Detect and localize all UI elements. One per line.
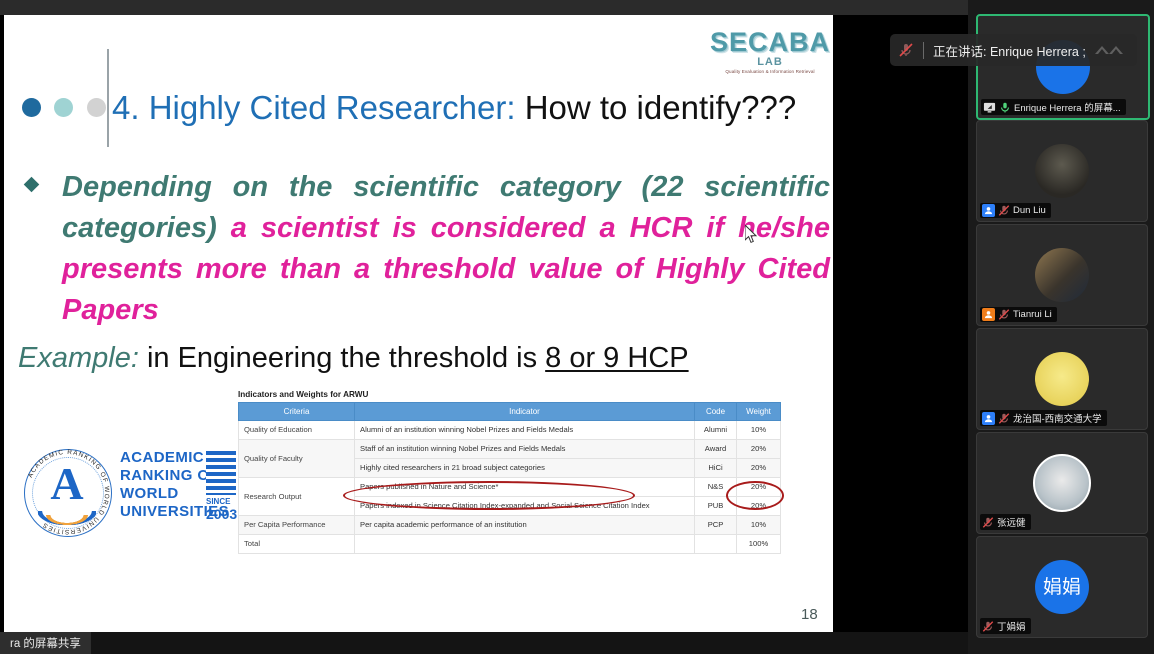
cell-criteria: Quality of Education bbox=[239, 421, 355, 440]
cell-code: HiCi bbox=[695, 459, 737, 478]
participant-tile[interactable]: 张远健 bbox=[976, 432, 1148, 534]
avatar bbox=[1035, 248, 1089, 302]
cell-indicator: Papers indexed in Science Citation Index… bbox=[355, 497, 695, 516]
cell-weight: 100% bbox=[737, 535, 781, 554]
mic-muted-icon bbox=[998, 412, 1010, 425]
participants-sidebar[interactable]: Enrique Herrera 的屏幕... Dun Liu bbox=[968, 0, 1154, 654]
cell-code: Alumni bbox=[695, 421, 737, 440]
cell-weight: 10% bbox=[737, 516, 781, 535]
cell-weight: 20% bbox=[737, 459, 781, 478]
dot-3-icon bbox=[87, 98, 106, 117]
bullet-diamond-icon bbox=[24, 177, 40, 193]
table-row: Total 100% bbox=[239, 535, 781, 554]
mouse-cursor-icon bbox=[745, 225, 758, 244]
shared-slide: SECABA LAB Quality Evaluation & Informat… bbox=[4, 15, 833, 637]
muted-mic-icon bbox=[898, 42, 914, 58]
participant-name-chip: Enrique Herrera 的屏幕... bbox=[981, 99, 1126, 115]
dot-2-icon bbox=[54, 98, 73, 117]
cell-code: PUB bbox=[695, 497, 737, 516]
participant-name-chip: Dun Liu bbox=[980, 203, 1051, 218]
avatar bbox=[1035, 144, 1089, 198]
arwu-indicators-table: Criteria Indicator Code Weight Quality o… bbox=[238, 402, 781, 554]
cell-criteria: Per Capita Performance bbox=[239, 516, 355, 535]
active-speaker-banner: 正在讲话: Enrique Herrera ; bbox=[890, 34, 1137, 66]
arwu-logo: ACADEMIC RANKING OF WORLD UNIVERSITIES A… bbox=[20, 439, 236, 545]
participant-name: Enrique Herrera 的屏幕... bbox=[1014, 100, 1121, 114]
cell-indicator: Staff of an institution winning Nobel Pr… bbox=[355, 440, 695, 459]
mic-muted-icon bbox=[998, 204, 1010, 217]
participant-name: Tianrui Li bbox=[1013, 309, 1052, 320]
participant-tile[interactable]: 娟娟 丁娟娟 bbox=[976, 536, 1148, 638]
secaba-logo-tagline: Quality Evaluation & Information Retriev… bbox=[706, 68, 833, 75]
mic-muted-icon bbox=[982, 516, 994, 529]
title-dots bbox=[22, 98, 115, 117]
arwu-monogram: A bbox=[20, 461, 114, 507]
cell-weight: 20% bbox=[737, 478, 781, 497]
table-header-indicator: Indicator bbox=[355, 403, 695, 421]
cell-indicator bbox=[355, 535, 695, 554]
participant-name: Dun Liu bbox=[1013, 205, 1046, 216]
avatar bbox=[1035, 352, 1089, 406]
cell-code: N&S bbox=[695, 478, 737, 497]
participant-name-chip: 龙治国-西南交通大学 bbox=[980, 410, 1107, 426]
secaba-logo-name: SECABA bbox=[706, 29, 833, 56]
cell-weight: 10% bbox=[737, 421, 781, 440]
taskbar-item-screenshare[interactable]: ra 的屏幕共享 bbox=[0, 632, 91, 654]
screen-share-icon bbox=[983, 101, 996, 114]
table-header-weight: Weight bbox=[737, 403, 781, 421]
participant-name: 丁娟娟 bbox=[997, 619, 1026, 633]
slide-title: 4. Highly Cited Researcher: How to ident… bbox=[112, 89, 796, 127]
slide-page-number: 18 bbox=[801, 606, 818, 623]
slide-example-line: Example: in Engineering the threshold is… bbox=[18, 341, 689, 375]
example-body: in Engineering the threshold is bbox=[147, 342, 537, 374]
cell-indicator: Alumni of an institution winning Nobel P… bbox=[355, 421, 695, 440]
slide-title-black: How to identify??? bbox=[525, 89, 797, 126]
participant-tile[interactable]: Tianrui Li bbox=[976, 224, 1148, 326]
cell-criteria: Total bbox=[239, 535, 355, 554]
cell-indicator: Per capita academic performance of an in… bbox=[355, 516, 695, 535]
participant-tile[interactable]: 龙治国-西南交通大学 bbox=[976, 328, 1148, 430]
taskbar bbox=[0, 632, 968, 654]
table-row: Research Output Papers published in Natu… bbox=[239, 478, 781, 497]
participant-tile[interactable]: Dun Liu bbox=[976, 120, 1148, 222]
cell-code: Award bbox=[695, 440, 737, 459]
cell-weight: 20% bbox=[737, 497, 781, 516]
banner-chevrons-icon bbox=[1093, 42, 1127, 58]
table-row: Quality of Faculty Staff of an instituti… bbox=[239, 440, 781, 459]
arwu-table-block: Indicators and Weights for ARWU Criteria… bbox=[238, 390, 780, 554]
mic-on-icon bbox=[999, 101, 1011, 114]
dot-1-icon bbox=[22, 98, 41, 117]
participant-name-chip: 张远健 bbox=[980, 514, 1031, 530]
secaba-logo-sub: LAB bbox=[706, 56, 833, 68]
table-header-row: Criteria Indicator Code Weight bbox=[239, 403, 781, 421]
cell-criteria: Quality of Faculty bbox=[239, 440, 355, 478]
participant-name: 龙治国-西南交通大学 bbox=[1013, 411, 1102, 425]
cell-indicator: Highly cited researchers in 21 broad sub… bbox=[355, 459, 695, 478]
mic-muted-icon bbox=[982, 620, 994, 633]
person-icon bbox=[982, 308, 995, 321]
example-label: Example: bbox=[18, 342, 139, 374]
cell-code bbox=[695, 535, 737, 554]
person-icon bbox=[982, 412, 995, 425]
table-row: Per Capita Performance Per capita academ… bbox=[239, 516, 781, 535]
mic-muted-icon bbox=[998, 308, 1010, 321]
avatar bbox=[1033, 454, 1091, 512]
participant-tile[interactable]: Enrique Herrera 的屏幕... bbox=[976, 14, 1150, 120]
table-header-criteria: Criteria bbox=[239, 403, 355, 421]
active-speaker-text: 正在讲话: Enrique Herrera ; bbox=[933, 41, 1086, 60]
avatar-initials: 娟娟 bbox=[1043, 578, 1081, 597]
cell-code: PCP bbox=[695, 516, 737, 535]
arwu-table-caption: Indicators and Weights for ARWU bbox=[238, 390, 780, 402]
person-icon bbox=[982, 204, 995, 217]
slide-paragraph: Depending on the scientific category (22… bbox=[62, 167, 830, 331]
cell-weight: 20% bbox=[737, 440, 781, 459]
arwu-logo-mark: ACADEMIC RANKING OF WORLD UNIVERSITIES A bbox=[20, 445, 114, 539]
participant-name-chip: 丁娟娟 bbox=[980, 618, 1031, 634]
arwu-bars-decoration bbox=[206, 451, 236, 495]
screen: SECABA LAB Quality Evaluation & Informat… bbox=[0, 0, 1154, 654]
arwu-year-label: 2003 bbox=[206, 507, 240, 522]
example-underlined: 8 or 9 HCP bbox=[545, 342, 688, 374]
table-row: Quality of Education Alumni of an instit… bbox=[239, 421, 781, 440]
cell-indicator: Papers published in Nature and Science* bbox=[355, 478, 695, 497]
slide-title-blue: 4. Highly Cited Researcher: bbox=[112, 89, 516, 126]
arwu-since-label: SINCE bbox=[206, 497, 236, 506]
participant-name: 张远健 bbox=[997, 515, 1026, 529]
participant-name-chip: Tianrui Li bbox=[980, 307, 1057, 322]
arwu-wave-orange-icon bbox=[46, 515, 88, 525]
secaba-logo: SECABA LAB Quality Evaluation & Informat… bbox=[706, 29, 833, 81]
desktop-top-band bbox=[0, 0, 968, 15]
cell-criteria: Research Output bbox=[239, 478, 355, 516]
banner-divider bbox=[923, 42, 924, 59]
table-header-code: Code bbox=[695, 403, 737, 421]
